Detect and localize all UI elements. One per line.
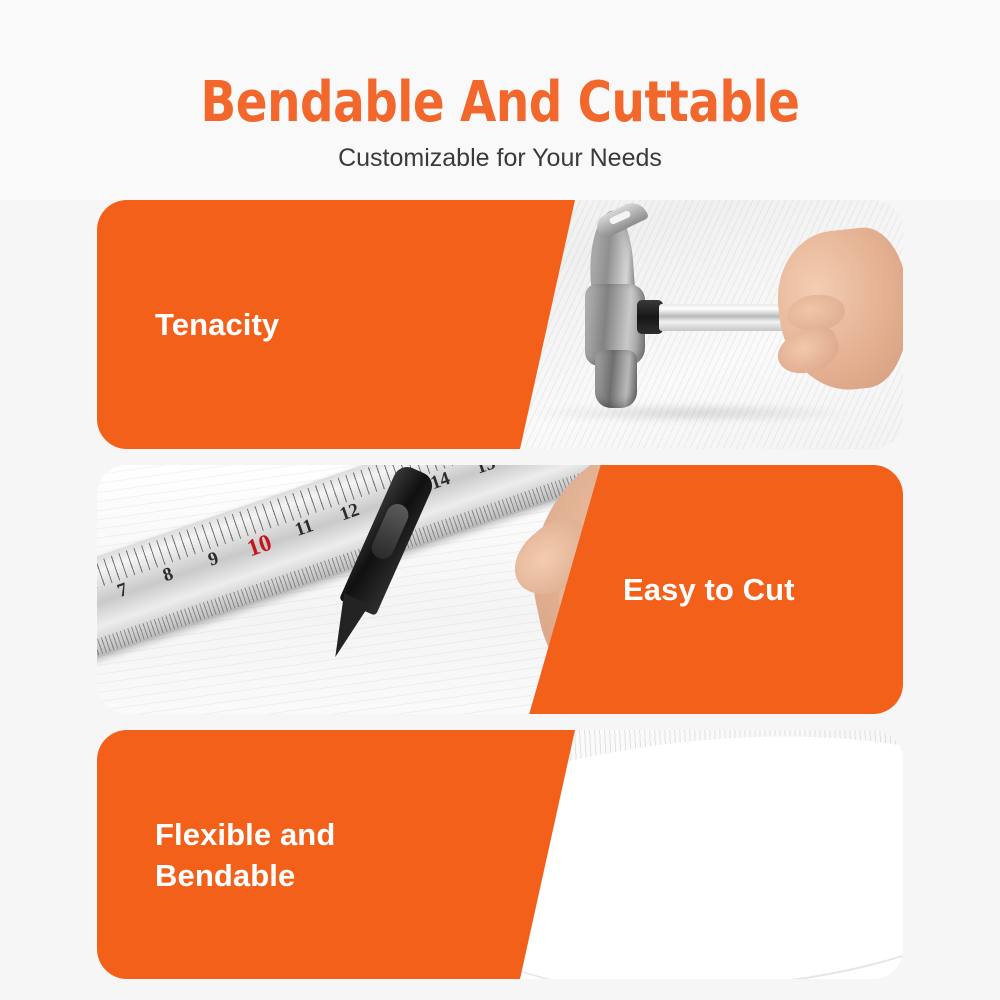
feature-label-flexible-and-bendable: Flexible and Bendable [155,814,335,896]
hammer-face [595,350,637,408]
feature-card-easy-to-cut: 6 7 8 9 10 11 12 13 14 15 25 26 [97,465,903,714]
page-subtitle: Customizable for Your Needs [338,144,662,172]
feature-label-easy-to-cut: Easy to Cut [623,569,795,610]
page-title: Bendable And Cuttable [201,74,800,132]
orange-label-panel: Tenacity [97,200,575,449]
feature-card-flexible-and-bendable: Flexible and Bendable [97,730,903,979]
ruler-number: 15 [460,465,516,494]
orange-label-panel: Flexible and Bendable [97,730,575,979]
feature-label-tenacity: Tenacity [155,304,279,345]
feature-card-tenacity: Tenacity [97,200,903,449]
header: Bendable And Cuttable Customizable for Y… [0,0,1000,200]
